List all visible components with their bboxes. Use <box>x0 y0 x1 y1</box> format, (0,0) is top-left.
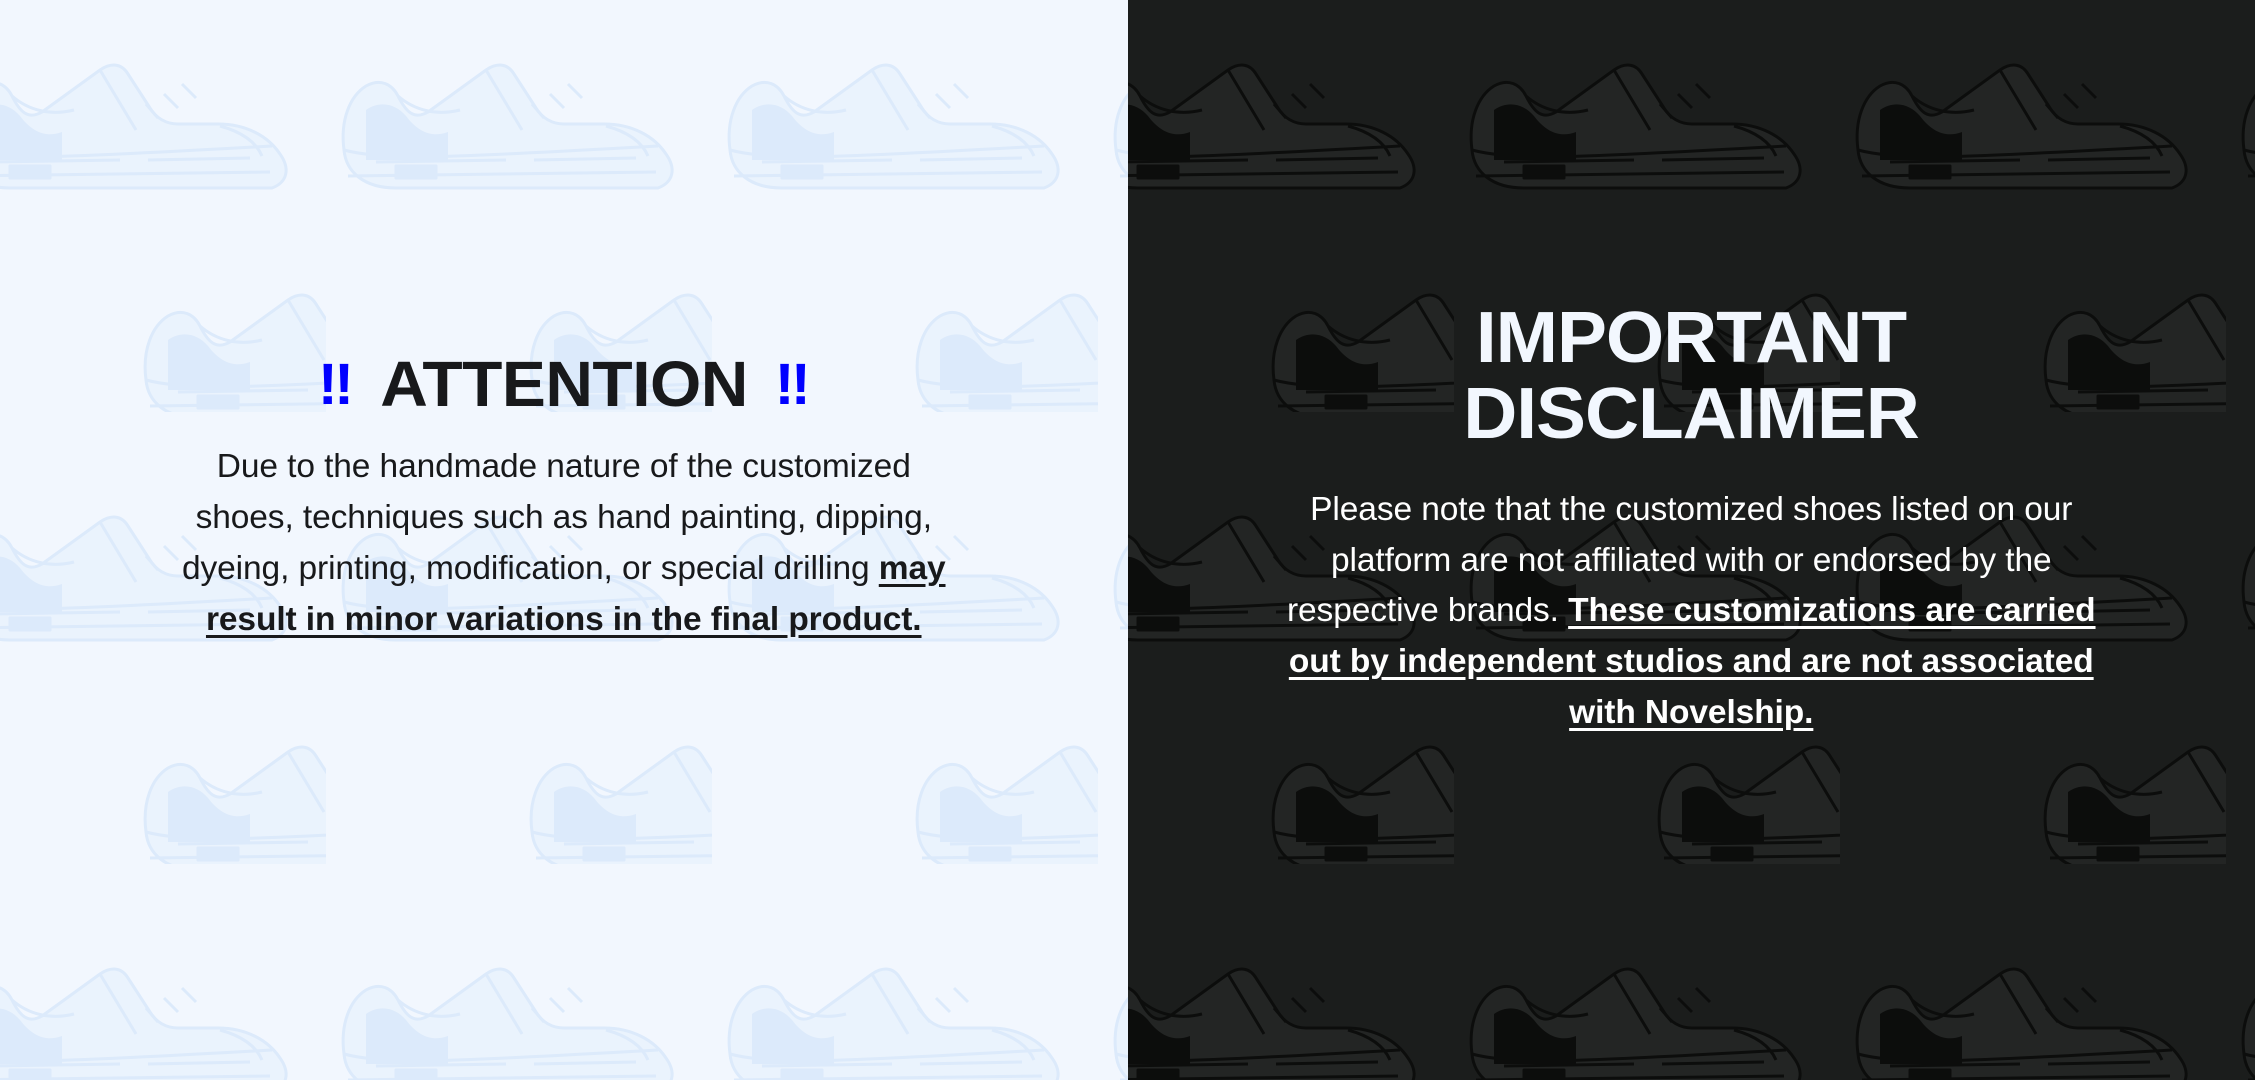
double-exclamation-right-icon: ‼ <box>774 356 810 414</box>
disclaimer-panel: IMPORTANT DISCLAIMER Please note that th… <box>1128 0 2255 1080</box>
attention-body: Due to the handmade nature of the custom… <box>164 442 964 646</box>
attention-content: ‼ ATTENTION ‼ Due to the handmade nature… <box>0 0 1128 646</box>
attention-panel: ‼ ATTENTION ‼ Due to the handmade nature… <box>0 0 1128 1080</box>
attention-body-normal: Due to the handmade nature of the custom… <box>182 448 932 587</box>
disclaimer-content: IMPORTANT DISCLAIMER Please note that th… <box>1128 0 2255 739</box>
disclaimer-body: Please note that the customized shoes li… <box>1276 485 2106 740</box>
attention-heading-text: ATTENTION <box>380 352 748 416</box>
disclaimer-heading-line1: IMPORTANT <box>1476 298 1906 378</box>
disclaimer-heading-line2: DISCLAIMER <box>1463 374 1919 454</box>
disclaimer-banner: ‼ ATTENTION ‼ Due to the handmade nature… <box>0 0 2255 1080</box>
double-exclamation-left-icon: ‼ <box>318 356 354 414</box>
attention-heading: ‼ ATTENTION ‼ <box>318 352 810 416</box>
disclaimer-heading: IMPORTANT DISCLAIMER <box>1327 300 2055 453</box>
